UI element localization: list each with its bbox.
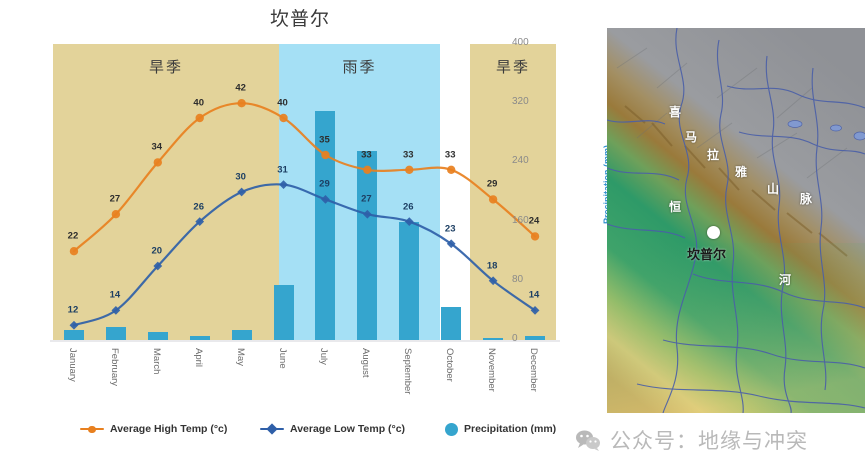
high-temp-point xyxy=(531,232,539,240)
chart-legend: Average High Temp (°c) Average Low Temp … xyxy=(60,418,580,444)
x-axis-month-label: June xyxy=(277,348,288,369)
high-temp-point xyxy=(405,166,413,174)
high-temp-point xyxy=(489,195,497,203)
low-temp-value-label: 29 xyxy=(319,179,330,190)
map-place-label: 喜 xyxy=(669,103,681,120)
low-temp-value-label: 20 xyxy=(151,246,162,257)
low-temp-value-label: 23 xyxy=(445,223,456,234)
map-place-label: 山 xyxy=(767,180,779,197)
y-axis-right-tick: 80 xyxy=(512,274,552,285)
watermark-text: 公众号：地缘与冲突 xyxy=(610,425,808,455)
low-temp-point xyxy=(405,217,414,226)
high-temp-value-label: 33 xyxy=(403,149,414,160)
high-temp-value-label: 34 xyxy=(151,142,162,153)
low-temp-value-label: 14 xyxy=(529,290,540,301)
climate-chart-panel: 坎普尔 Temperature (°c) Precipitation (mm) … xyxy=(0,0,600,468)
y-axis-right-tick: 240 xyxy=(512,155,552,166)
high-temp-point xyxy=(70,247,78,255)
legend-label: Average Low Temp (°c) xyxy=(290,423,405,435)
x-axis-baseline xyxy=(50,340,560,342)
low-temp-value-label: 12 xyxy=(68,305,79,316)
x-axis-month-label: May xyxy=(235,348,246,366)
legend-item-high-temp[interactable]: Average High Temp (°c) xyxy=(80,418,227,440)
high-temp-point xyxy=(112,210,120,218)
city-label-kanpur: 坎普尔 xyxy=(687,244,726,263)
map-place-label: 马 xyxy=(685,128,697,145)
low-temp-value-label: 26 xyxy=(403,201,414,212)
legend-label: Average High Temp (°c) xyxy=(110,423,227,435)
high-temp-point xyxy=(154,158,162,166)
high-temp-point xyxy=(279,114,287,122)
low-temp-value-label: 26 xyxy=(193,201,204,212)
map-place-label: 恒 xyxy=(669,198,681,215)
low-temp-value-label: 30 xyxy=(235,172,246,183)
high-temp-value-label: 40 xyxy=(277,98,288,109)
low-temp-value-label: 14 xyxy=(110,290,121,301)
low-temp-point xyxy=(363,210,372,219)
map-terrain-image xyxy=(607,28,865,413)
x-axis-month-label: November xyxy=(486,348,497,392)
y-axis-right-tick: 400 xyxy=(512,37,552,48)
map-place-label: 拉 xyxy=(707,146,719,163)
high-temp-value-label: 22 xyxy=(68,231,79,242)
line-marker-icon xyxy=(80,424,104,434)
screenshot-root: 坎普尔 Temperature (°c) Precipitation (mm) … xyxy=(0,0,865,468)
high-temp-point xyxy=(363,166,371,174)
map-place-label: 河 xyxy=(779,271,791,288)
map-place-label: 雅 xyxy=(735,163,747,180)
low-temp-line xyxy=(74,184,535,325)
temperature-lines xyxy=(53,44,556,340)
x-axis-month-label: December xyxy=(528,348,539,392)
low-temp-point xyxy=(70,321,79,330)
low-temp-value-label: 31 xyxy=(277,164,288,175)
low-temp-point xyxy=(321,195,330,204)
low-temp-markers xyxy=(70,180,540,329)
plot-area: 旱季 雨季 旱季 2227344042403533333329241214202… xyxy=(53,44,556,340)
high-temp-value-label: 33 xyxy=(445,149,456,160)
city-marker-dot[interactable] xyxy=(707,226,720,239)
x-axis-month-label: July xyxy=(318,348,329,365)
watermark: 公众号：地缘与冲突 xyxy=(575,425,808,455)
y-axis-right-tick: 160 xyxy=(512,215,552,226)
chart-title: 坎普尔 xyxy=(0,4,600,31)
map-place-label: 脉 xyxy=(800,190,812,207)
legend-label: Precipitation (mm) xyxy=(464,423,556,435)
high-temp-value-label: 42 xyxy=(235,83,246,94)
x-axis-month-label: August xyxy=(360,348,371,378)
high-temp-value-label: 29 xyxy=(487,179,498,190)
circle-marker-icon xyxy=(445,423,458,436)
high-temp-point xyxy=(237,99,245,107)
high-temp-point xyxy=(321,151,329,159)
x-axis-month-label: October xyxy=(444,348,455,382)
high-temp-value-label: 33 xyxy=(361,149,372,160)
low-temp-value-label: 18 xyxy=(487,260,498,271)
wechat-icon xyxy=(575,429,601,451)
y-axis-right-tick: 320 xyxy=(512,96,552,107)
low-temp-point xyxy=(279,180,288,189)
y-axis-right-tick: 0 xyxy=(512,333,552,344)
x-axis-month-label: September xyxy=(402,348,413,394)
x-axis-month-label: March xyxy=(151,348,162,374)
high-temp-line xyxy=(74,103,535,251)
high-temp-value-label: 35 xyxy=(319,135,330,146)
legend-item-precipitation[interactable]: Precipitation (mm) xyxy=(445,418,556,440)
x-axis-month-label: February xyxy=(109,348,120,386)
high-temp-markers xyxy=(70,99,539,255)
low-temp-value-label: 27 xyxy=(361,194,372,205)
line-marker-icon xyxy=(260,424,284,434)
high-temp-value-label: 27 xyxy=(110,194,121,205)
high-temp-point xyxy=(447,166,455,174)
low-temp-point xyxy=(237,188,246,197)
high-temp-value-label: 40 xyxy=(193,98,204,109)
x-axis-month-label: April xyxy=(193,348,204,367)
high-temp-point xyxy=(196,114,204,122)
x-axis-month-label: January xyxy=(67,348,78,382)
legend-item-low-temp[interactable]: Average Low Temp (°c) xyxy=(260,418,405,440)
region-map[interactable]: 喜马拉雅山脉恒河 坎普尔 xyxy=(607,28,865,413)
